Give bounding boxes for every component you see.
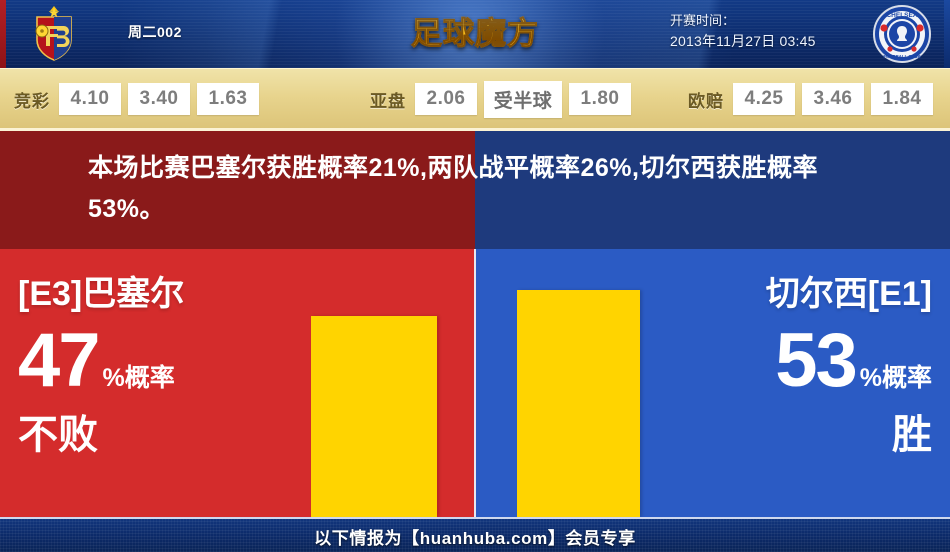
site-logo-text: 足球魔方	[395, 8, 555, 60]
euro-cell-home-win[interactable]: 4.25	[733, 83, 795, 115]
home-probability-bar	[311, 316, 437, 517]
footer-bar: 以下情报为【huanhuba.com】会员专享	[0, 517, 950, 552]
kickoff-label: 开赛时间：	[670, 10, 816, 31]
euro-cell-away-win[interactable]: 1.84	[871, 83, 933, 115]
away-percentage-unit: %概率	[860, 363, 932, 393]
odds-cell-draw[interactable]: 3.40	[128, 83, 190, 115]
handicap-cell-line[interactable]: 受半球	[484, 81, 562, 118]
site-logo: 足球魔方	[395, 8, 555, 60]
away-percentage-row: 53 %概率	[662, 319, 932, 403]
odds-group-jingcai: 竞彩 4.10 3.40 1.63	[14, 69, 266, 129]
probability-chart-area: [E3]巴塞尔 47 %概率 不败 切尔西[E1] 53 %概率 胜	[0, 249, 950, 517]
footer-top-divider	[0, 517, 950, 519]
euro-cell-draw[interactable]: 3.46	[802, 83, 864, 115]
home-outcome-label: 不败	[18, 409, 288, 461]
odds-group-label: 竞彩	[14, 87, 50, 112]
odds-cell-home-win[interactable]: 4.10	[59, 83, 121, 115]
away-probability-bar	[517, 290, 640, 517]
panel-divider	[474, 249, 476, 517]
odds-group-asian-handicap: 亚盘 2.06 受半球 1.80	[370, 69, 638, 129]
odds-group-label: 欧赔	[688, 87, 724, 112]
header-right-edge-accent	[944, 0, 950, 68]
away-team-name: 切尔西[E1]	[662, 271, 932, 317]
home-percentage-unit: %概率	[103, 363, 175, 393]
svg-text:CHELSEA: CHELSEA	[886, 12, 917, 19]
fc-basel-crest	[24, 4, 84, 64]
probability-summary-text: 本场比赛巴塞尔获胜概率21%,两队战平概率26%,切尔西获胜概率53%。	[88, 148, 888, 230]
svg-text:FOOTBALL CLUB: FOOTBALL CLUB	[883, 54, 920, 59]
handicap-cell-away[interactable]: 1.80	[569, 83, 631, 115]
odds-bar: 竞彩 4.10 3.40 1.63 亚盘 2.06 受半球 1.80 欧赔 4.…	[0, 68, 950, 129]
home-stat-block: [E3]巴塞尔 47 %概率 不败	[18, 271, 288, 461]
odds-group-european: 欧赔 4.25 3.46 1.84	[688, 69, 940, 129]
handicap-cell-home[interactable]: 2.06	[415, 83, 477, 115]
away-percentage-value: 53	[775, 319, 856, 403]
home-percentage-row: 47 %概率	[18, 319, 288, 403]
odds-group-label: 亚盘	[370, 87, 406, 112]
odds-cell-away-win[interactable]: 1.63	[197, 83, 259, 115]
chelsea-crest: CHELSEA FOOTBALL CLUB	[872, 4, 932, 64]
match-number: 周二002	[128, 22, 182, 42]
home-percentage-value: 47	[18, 319, 99, 403]
footer-membership-note: 以下情报为【huanhuba.com】会员专享	[0, 524, 950, 549]
probability-summary-banner: 本场比赛巴塞尔获胜概率21%,两队战平概率26%,切尔西获胜概率53%。	[0, 128, 950, 249]
away-outcome-label: 胜	[662, 409, 932, 461]
banner-top-divider	[0, 128, 950, 131]
home-team-name: [E3]巴塞尔	[18, 271, 288, 317]
match-probability-infographic: 周二002 足球魔方 开赛时间： 2013年11月27日 03:45 CHELS…	[0, 0, 950, 552]
match-header: 周二002 足球魔方 开赛时间： 2013年11月27日 03:45 CHELS…	[0, 0, 950, 68]
kickoff-time: 2013年11月27日 03:45	[670, 31, 816, 52]
away-stat-block: 切尔西[E1] 53 %概率 胜	[662, 271, 932, 461]
kickoff-block: 开赛时间： 2013年11月27日 03:45	[670, 10, 816, 52]
header-left-edge-accent	[0, 0, 6, 68]
